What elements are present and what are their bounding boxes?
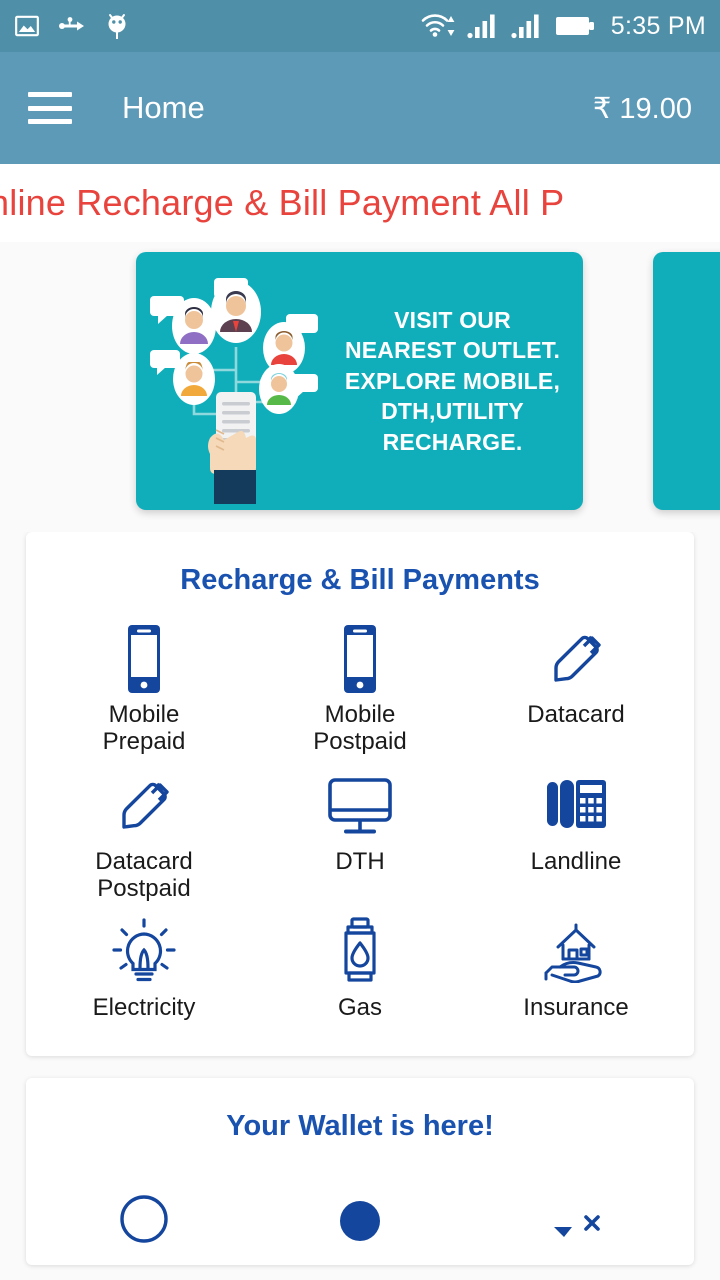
android-robot-icon <box>104 11 130 41</box>
status-bar-right-icons: 5:35 PM <box>421 12 706 41</box>
image-icon <box>14 13 40 39</box>
wallet-transfer-icon <box>546 1181 606 1253</box>
marquee-text: ant Online Recharge & Bill Payment All P <box>0 182 564 224</box>
signal-sim2-icon <box>511 13 545 39</box>
tile-datacard[interactable]: Datacard <box>468 615 684 762</box>
wallet-tile-2[interactable] <box>252 1173 468 1265</box>
recharge-bill-payments-card: Recharge & Bill Payments Mobile Prepaid <box>26 532 694 1056</box>
wifi-icon <box>421 12 457 40</box>
wallet-tile-row <box>26 1161 694 1265</box>
usb-datacard-icon <box>112 770 176 842</box>
tile-label: Gas <box>338 994 382 1021</box>
wallet-card-title: Your Wallet is here! <box>26 1078 694 1161</box>
wallet-tile-3[interactable] <box>468 1173 684 1265</box>
tile-dth[interactable]: DTH <box>252 762 468 909</box>
battery-icon <box>555 14 597 38</box>
recharge-tile-grid: Mobile Prepaid Mobile Postpaid <box>26 615 694 1056</box>
status-bar-left-icons <box>14 11 130 41</box>
banner-carousel[interactable]: VISIT OUR NEAREST OUTLET. EXPLORE MOBILE… <box>0 242 720 532</box>
tile-label: Landline <box>531 848 622 875</box>
mobile-phone-icon <box>120 623 168 695</box>
tile-label: DTH <box>335 848 384 875</box>
wallet-tile-1[interactable] <box>36 1173 252 1265</box>
app-bar: Home ₹ 19.00 <box>0 52 720 164</box>
mobile-phone-icon <box>336 623 384 695</box>
tile-mobile-postpaid[interactable]: Mobile Postpaid <box>252 615 468 762</box>
tile-label: Electricity <box>93 994 196 1021</box>
recharge-card-title: Recharge & Bill Payments <box>26 532 694 615</box>
page-title: Home <box>122 90 205 126</box>
tile-datacard-postpaid[interactable]: Datacard Postpaid <box>36 762 252 909</box>
banner-slide-1[interactable]: VISIT OUR NEAREST OUTLET. EXPLORE MOBILE… <box>136 252 583 510</box>
signal-sim1-icon <box>467 13 501 39</box>
tile-mobile-prepaid[interactable]: Mobile Prepaid <box>36 615 252 762</box>
hamburger-menu-icon[interactable] <box>28 92 72 124</box>
tile-landline[interactable]: Landline <box>468 762 684 909</box>
wallet-coin-icon <box>330 1181 390 1253</box>
wallet-circle-icon <box>114 1181 174 1253</box>
gas-cylinder-icon <box>334 916 386 988</box>
house-in-hand-icon <box>538 916 614 988</box>
tile-label: Datacard <box>527 701 624 728</box>
tile-label: Datacard Postpaid <box>95 848 192 903</box>
television-icon <box>324 770 396 842</box>
usb-icon <box>58 15 86 37</box>
landline-phone-icon <box>543 770 609 842</box>
usb-datacard-icon <box>544 623 608 695</box>
tile-label: Mobile Prepaid <box>103 701 186 756</box>
partial-banner-illustration <box>653 252 720 510</box>
wallet-card: Your Wallet is here! <box>26 1078 694 1265</box>
tile-label: Insurance <box>523 994 628 1021</box>
light-bulb-icon <box>109 916 179 988</box>
tile-label: Mobile Postpaid <box>313 701 406 756</box>
tile-gas[interactable]: Gas <box>252 908 468 1027</box>
banner-slide-2[interactable] <box>653 252 720 510</box>
status-bar: 5:35 PM <box>0 0 720 52</box>
status-bar-clock: 5:35 PM <box>611 12 706 41</box>
hand-holding-phone-with-user-avatars-illustration <box>136 252 336 510</box>
tile-insurance[interactable]: Insurance <box>468 908 684 1027</box>
tile-electricity[interactable]: Electricity <box>36 908 252 1027</box>
banner-headline: VISIT OUR NEAREST OUTLET. EXPLORE MOBILE… <box>336 305 583 457</box>
wallet-balance[interactable]: ₹ 19.00 <box>593 91 692 126</box>
marquee-banner: ant Online Recharge & Bill Payment All P <box>0 164 720 242</box>
